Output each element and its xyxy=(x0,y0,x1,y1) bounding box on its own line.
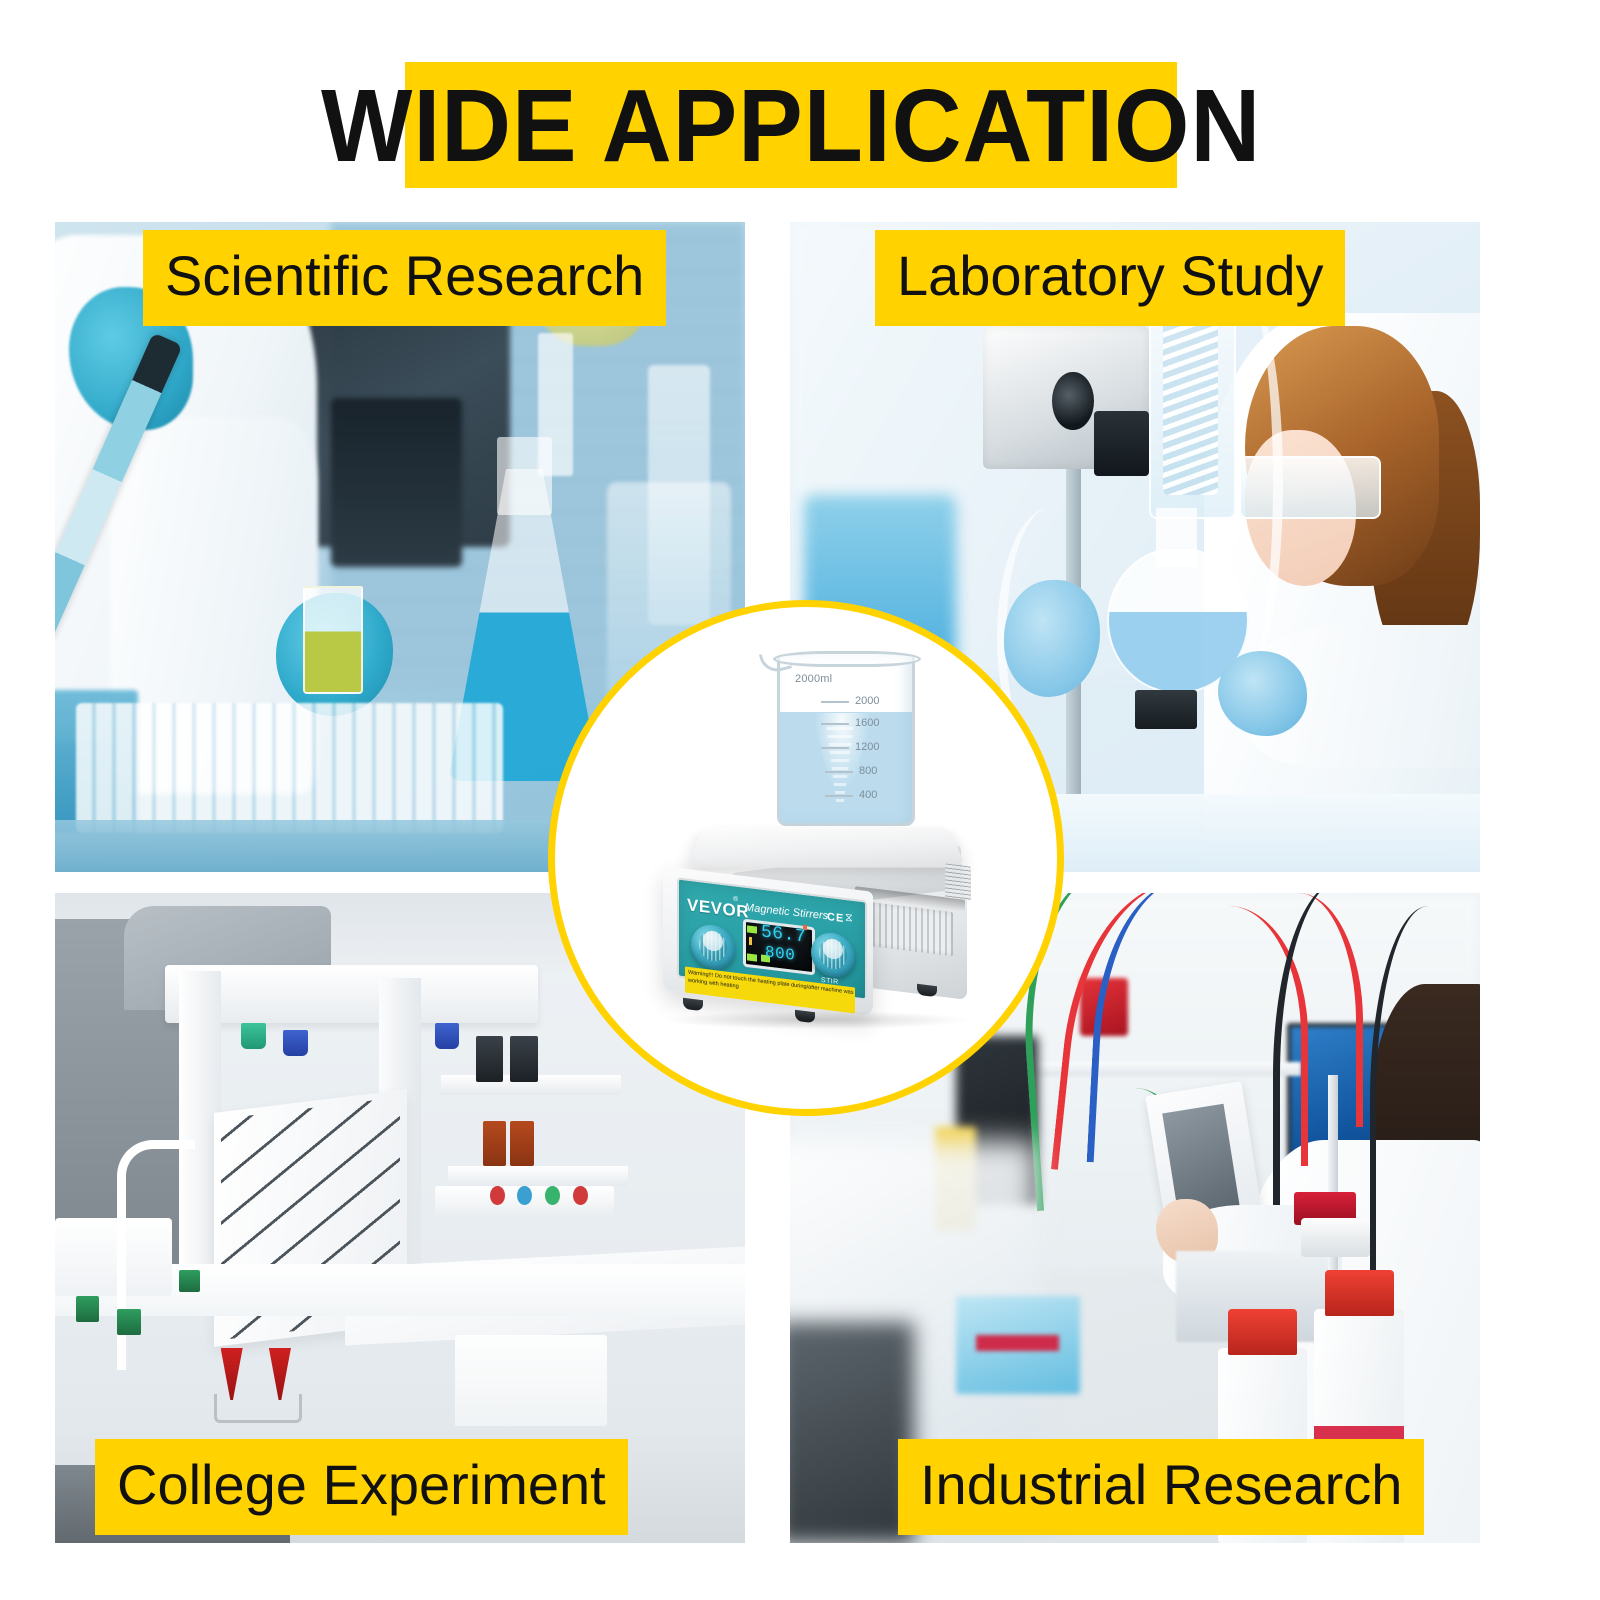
speed-readout: 800 xyxy=(765,943,795,965)
beaker-capacity-label: 2000ml xyxy=(795,673,832,685)
product-ground-shadow xyxy=(667,1011,967,1029)
rubber-foot-front-left xyxy=(683,998,703,1011)
caption-scientific-research: Scientific Research xyxy=(143,230,666,326)
ce-mark-icon: CE xyxy=(827,911,844,925)
display-indicator-bottom-left xyxy=(747,953,757,961)
caption-laboratory-study: Laboratory Study xyxy=(875,230,1345,326)
page-title-banner: WIDE APPLICATION xyxy=(405,62,1177,188)
beaker-graduation-2000: 2000 xyxy=(855,695,879,707)
product-image: 2000ml 2000 1600 1200 800 400 VEVOR ® Ma… xyxy=(555,607,1057,1109)
display-indicator-dot xyxy=(749,937,752,945)
beaker-graduation-1200: 1200 xyxy=(855,741,879,753)
heating-plate xyxy=(686,827,965,868)
beaker-graduation-1600: 1600 xyxy=(855,717,879,729)
registered-trademark-icon: ® xyxy=(733,896,738,904)
page-title: WIDE APPLICATION xyxy=(321,74,1261,177)
beaker-graduation-800: 800 xyxy=(859,765,877,777)
specification-label xyxy=(945,863,971,900)
beaker-graduation-400: 400 xyxy=(859,789,877,801)
display-indicator-top xyxy=(747,925,757,933)
caption-industrial-research: Industrial Research xyxy=(898,1439,1424,1535)
caption-college-experiment: College Experiment xyxy=(95,1439,628,1535)
weee-disposal-icon: ⧖ xyxy=(845,912,853,926)
beaker-rim xyxy=(773,651,921,667)
rubber-foot-rear-right xyxy=(917,984,937,997)
product-highlight-circle[interactable]: 2000ml 2000 1600 1200 800 400 VEVOR ® Ma… xyxy=(548,600,1064,1116)
